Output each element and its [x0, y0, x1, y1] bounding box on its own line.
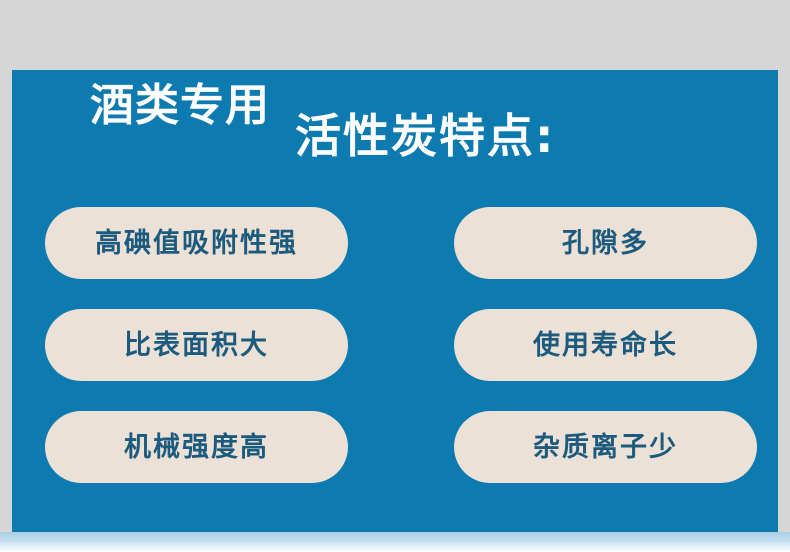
- page-title-primary: 酒类专用: [90, 84, 270, 128]
- feature-pill-high-iodine-adsorption: 高碘值吸附性强: [45, 207, 348, 279]
- bottom-gradient-band: [0, 532, 790, 552]
- blue-content-panel: 酒类专用 活性炭特点: 高碘值吸附性强 孔隙多 比表面积大 使用寿命长 机械强度…: [12, 70, 778, 533]
- poster-heading: 酒类专用 活性炭特点:: [12, 70, 778, 200]
- feature-pill-label: 高碘值吸附性强: [95, 230, 298, 257]
- feature-pill-label: 比表面积大: [124, 332, 269, 359]
- product-feature-poster: 酒类专用 活性炭特点: 高碘值吸附性强 孔隙多 比表面积大 使用寿命长 机械强度…: [0, 0, 790, 552]
- feature-pill-long-service-life: 使用寿命长: [454, 309, 757, 381]
- feature-pill-many-pores: 孔隙多: [454, 207, 757, 279]
- feature-pill-label: 杂质离子少: [533, 434, 678, 461]
- feature-pill-large-surface-area: 比表面积大: [45, 309, 348, 381]
- feature-pill-label: 使用寿命长: [533, 332, 678, 359]
- feature-pill-label: 机械强度高: [124, 434, 269, 461]
- feature-pill-few-impurity-ions: 杂质离子少: [454, 411, 757, 483]
- feature-pill-label: 孔隙多: [562, 230, 649, 257]
- feature-pill-grid: 高碘值吸附性强 孔隙多 比表面积大 使用寿命长 机械强度高 杂质离子少: [12, 207, 778, 517]
- feature-pill-high-mechanical-strength: 机械强度高: [45, 411, 348, 483]
- page-title-secondary: 活性炭特点:: [295, 113, 555, 159]
